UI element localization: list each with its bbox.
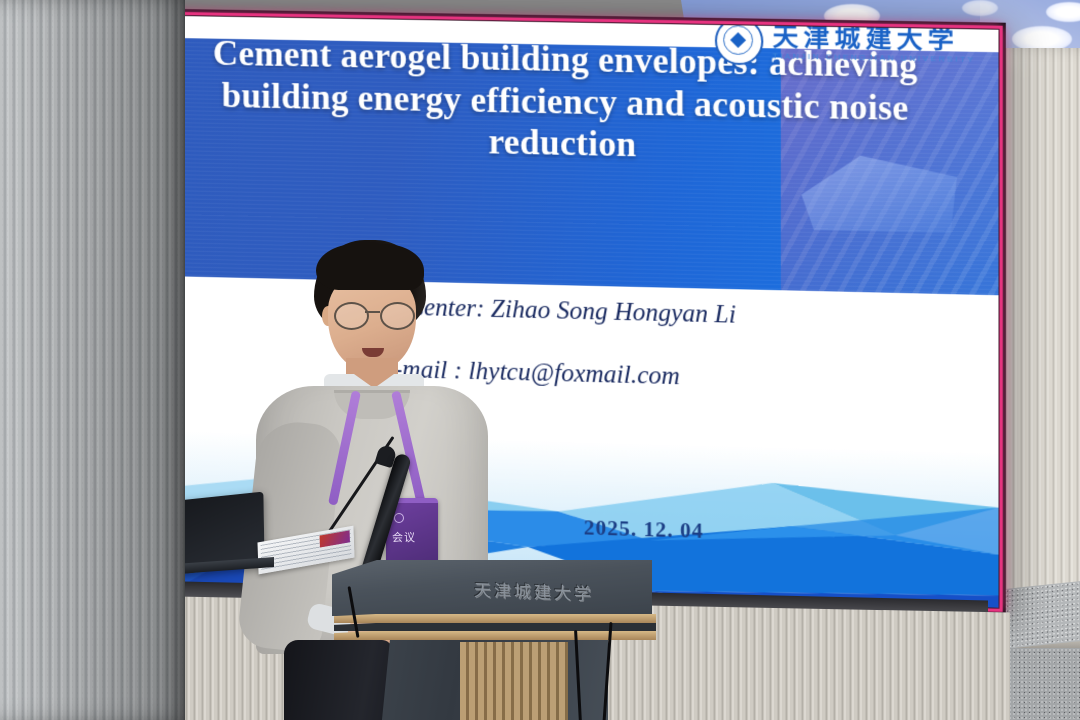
presentation-photo-scene: Cement aerogel building envelopes: achie… [0,0,1080,720]
badge-logo-icon [394,513,404,523]
lectern-wood-trim-upper [334,614,656,623]
ceiling-downlight-4 [962,0,998,16]
lectern-top: 天津城建大学 [332,560,652,616]
lectern-wood-slats [460,642,568,720]
badge-text: 会议 [392,531,416,544]
university-name-block: 天津城建大学 TIANJIN CHENGJIAN UNIVERSITY [772,23,975,63]
glasses-bridge [365,311,380,313]
left-wall-shading [0,0,185,720]
university-name-en: TIANJIN CHENGJIAN UNIVERSITY [772,52,975,64]
lectern-trim-gap [334,623,656,631]
glasses-lens-right [380,302,415,330]
lectern-engraved-text: 天津城建大学 [474,576,594,605]
presenter-hair-fringe [316,244,424,290]
glasses-icon [332,302,416,326]
lectern: 天津城建大学 [332,560,672,720]
glasses-lens-left [334,302,369,330]
slide-date: 2025. 12. 04 [584,515,704,544]
